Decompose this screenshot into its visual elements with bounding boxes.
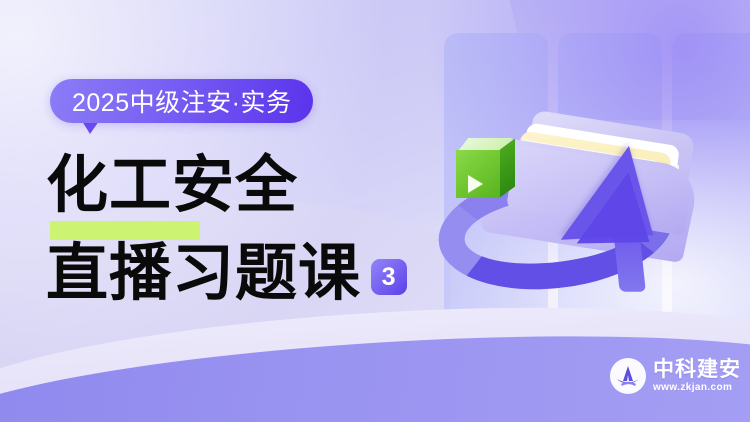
episode-number-badge: 3	[371, 259, 407, 295]
cube-front-face	[456, 150, 500, 198]
title-highlight-bar	[50, 221, 200, 240]
zkjan-circle-mark-icon	[610, 358, 646, 394]
play-cube	[456, 138, 518, 202]
brand-url: www.zkjan.com	[653, 383, 741, 393]
brand-logo-text: 中科建安 www.zkjan.com	[653, 359, 741, 393]
title-line-1: 化工安全	[46, 155, 407, 217]
subject-badge: 2025中级注安·实务	[50, 79, 313, 123]
cube-side-face	[500, 139, 515, 198]
subject-badge-label: 2025中级注安·实务	[72, 83, 291, 119]
play-triangle-icon	[468, 175, 483, 193]
title-line-2-row: 直播习题课 3	[46, 243, 407, 305]
title-line-2: 直播习题课	[46, 243, 361, 305]
brand-name: 中科建安	[653, 359, 741, 380]
course-banner: 2025中级注安·实务 化工安全 直播习题课 3 中科建安 www.zkjan.…	[0, 0, 750, 422]
title-block: 化工安全 直播习题课 3	[46, 155, 407, 305]
brand-logo: 中科建安 www.zkjan.com	[610, 358, 741, 394]
